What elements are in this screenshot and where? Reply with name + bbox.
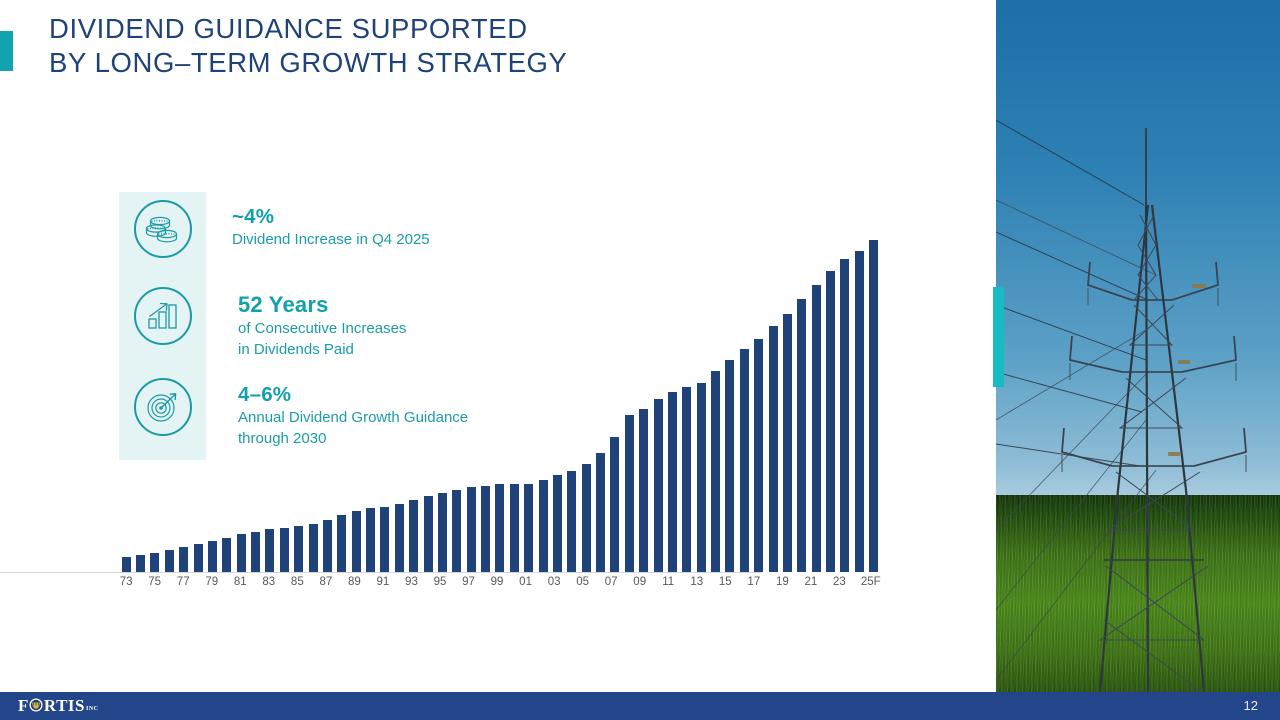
chart-bar-slot	[234, 240, 248, 572]
chart-bar-slot	[766, 240, 780, 572]
chart-x-tick	[133, 576, 147, 596]
chart-x-tick: 03	[547, 576, 561, 596]
chart-x-tick	[447, 576, 461, 596]
chart-x-tick	[190, 576, 204, 596]
fortis-logo-text: F RTIS INC	[18, 696, 99, 716]
chart-bar	[280, 528, 289, 572]
slide-root: DIVIDEND GUIDANCE SUPPORTED BY LONG–TERM…	[0, 0, 1280, 720]
chart-bar	[610, 437, 619, 572]
chart-bar-slot	[349, 240, 363, 572]
fortis-logo-crest-icon	[29, 697, 43, 711]
chart-bar-slot	[665, 240, 679, 572]
chart-bar-slot	[579, 240, 593, 572]
chart-bar	[222, 538, 231, 572]
chart-bar-slot	[838, 240, 852, 572]
chart-bar-slot	[493, 240, 507, 572]
chart-bar-slot	[220, 240, 234, 572]
chart-bar	[869, 240, 878, 572]
chart-plot-area	[119, 240, 881, 572]
chart-bar-slot	[780, 240, 794, 572]
chart-x-tick: 11	[661, 576, 675, 596]
transmission-tower-photo	[996, 0, 1280, 692]
chart-bar	[337, 515, 346, 572]
chart-bar-slot	[852, 240, 866, 572]
chart-x-tick	[561, 576, 575, 596]
chart-x-tick: 07	[604, 576, 618, 596]
chart-x-tick	[847, 576, 861, 596]
chart-x-tick	[675, 576, 689, 596]
chart-bar-slot	[708, 240, 722, 572]
chart-bar-slot	[637, 240, 651, 572]
chart-x-tick: 21	[804, 576, 818, 596]
chart-bar-slot	[191, 240, 205, 572]
chart-bar-slot	[723, 240, 737, 572]
chart-bar-slot	[248, 240, 262, 572]
chart-bar-slot	[507, 240, 521, 572]
chart-x-tick	[761, 576, 775, 596]
page-title-line-1: DIVIDEND GUIDANCE SUPPORTED	[49, 12, 829, 46]
chart-bar-slot	[522, 240, 536, 572]
chart-x-tick: 17	[747, 576, 761, 596]
stat-value-1: ~4%	[232, 204, 430, 229]
chart-bar-slot	[737, 240, 751, 572]
chart-x-tick	[276, 576, 290, 596]
chart-bar	[380, 507, 389, 572]
chart-bar-slot	[450, 240, 464, 572]
chart-x-tick: 77	[176, 576, 190, 596]
chart-bar	[122, 557, 131, 572]
chart-bar	[654, 399, 663, 572]
chart-bar	[194, 544, 203, 572]
chart-bar-slot	[133, 240, 147, 572]
chart-bar-slot	[795, 240, 809, 572]
fortis-logo-rtis: RTIS	[44, 696, 85, 716]
chart-bar	[294, 526, 303, 572]
chart-bar	[395, 504, 404, 572]
chart-bar-slot	[651, 240, 665, 572]
power-tower-illustration	[996, 0, 1280, 692]
chart-x-tick	[533, 576, 547, 596]
chart-x-tick: 73	[119, 576, 133, 596]
chart-bar-slot	[407, 240, 421, 572]
chart-x-tick	[647, 576, 661, 596]
chart-bar	[826, 271, 835, 572]
chart-bar	[769, 326, 778, 572]
chart-x-tick	[304, 576, 318, 596]
chart-bar-slot	[363, 240, 377, 572]
chart-bar	[754, 339, 763, 572]
chart-x-tick: 83	[262, 576, 276, 596]
chart-bar	[165, 550, 174, 572]
chart-bar	[783, 314, 792, 572]
chart-x-tick: 23	[832, 576, 846, 596]
chart-x-tick	[247, 576, 261, 596]
chart-x-tick: 87	[319, 576, 333, 596]
chart-bar-slot	[608, 240, 622, 572]
chart-bar-slot	[177, 240, 191, 572]
chart-x-tick	[618, 576, 632, 596]
chart-bar-slot	[292, 240, 306, 572]
chart-bar	[495, 484, 504, 572]
page-number: 12	[1244, 698, 1258, 713]
chart-x-tick: 75	[148, 576, 162, 596]
chart-bar-slot	[823, 240, 837, 572]
chart-bar	[237, 534, 246, 573]
chart-bar	[467, 487, 476, 572]
chart-bar	[438, 493, 447, 572]
chart-bar	[179, 547, 188, 572]
chart-bar-slot	[752, 240, 766, 572]
chart-x-tick	[219, 576, 233, 596]
chart-bar-slot	[148, 240, 162, 572]
chart-bar-slot	[421, 240, 435, 572]
chart-bar	[639, 409, 648, 572]
chart-bar	[352, 511, 361, 572]
fortis-logo: F RTIS INC	[18, 696, 99, 716]
chart-x-tick: 85	[290, 576, 304, 596]
chart-bar	[323, 520, 332, 572]
chart-bar	[452, 490, 461, 572]
chart-bar	[855, 251, 864, 572]
chart-x-tick	[732, 576, 746, 596]
chart-bar	[725, 360, 734, 572]
chart-bar-slot	[680, 240, 694, 572]
chart-x-tick	[333, 576, 347, 596]
chart-bar-slot	[694, 240, 708, 572]
chart-bar-slot	[205, 240, 219, 572]
chart-bar	[668, 392, 677, 572]
chart-bar-slot	[119, 240, 133, 572]
title-accent-bar	[0, 31, 13, 71]
chart-x-tick: 97	[461, 576, 475, 596]
chart-bar-slot	[464, 240, 478, 572]
chart-bar	[697, 383, 706, 572]
chart-bar	[567, 471, 576, 572]
chart-bar	[136, 555, 145, 572]
chart-bar	[150, 553, 159, 572]
chart-bar	[740, 349, 749, 572]
chart-x-tick	[419, 576, 433, 596]
chart-x-tick	[362, 576, 376, 596]
chart-bar	[481, 486, 490, 572]
chart-bar-slot	[277, 240, 291, 572]
chart-bar	[265, 529, 274, 572]
chart-x-tick: 09	[633, 576, 647, 596]
chart-x-tick: 91	[376, 576, 390, 596]
chart-x-tick: 19	[775, 576, 789, 596]
chart-bar	[251, 532, 260, 573]
chart-bar-slot	[392, 240, 406, 572]
chart-bar	[596, 453, 605, 572]
chart-bar	[797, 299, 806, 572]
chart-bar-slot	[809, 240, 823, 572]
chart-x-tick: 81	[233, 576, 247, 596]
chart-bar	[625, 415, 634, 572]
chart-bar	[424, 496, 433, 572]
chart-x-tick: 01	[518, 576, 532, 596]
chart-x-tick	[476, 576, 490, 596]
photo-accent-bar	[993, 287, 1004, 387]
chart-bar-slot	[593, 240, 607, 572]
chart-bar	[366, 508, 375, 572]
chart-bar	[524, 484, 533, 572]
chart-bar-slot	[478, 240, 492, 572]
chart-x-tick: 99	[490, 576, 504, 596]
fortis-logo-f: F	[18, 696, 29, 716]
dividend-history-bar-chart	[119, 240, 881, 572]
chart-baseline-axis	[0, 572, 762, 573]
page-title: DIVIDEND GUIDANCE SUPPORTED BY LONG–TERM…	[49, 12, 829, 80]
chart-x-axis-labels: 7375777981838587899193959799010305070911…	[119, 576, 881, 596]
chart-x-tick	[789, 576, 803, 596]
chart-x-tick: 25F	[861, 576, 881, 596]
chart-x-tick	[704, 576, 718, 596]
chart-x-tick	[590, 576, 604, 596]
chart-x-tick: 05	[576, 576, 590, 596]
chart-x-tick: 13	[690, 576, 704, 596]
chart-bar-slot	[378, 240, 392, 572]
chart-x-tick	[162, 576, 176, 596]
chart-x-tick: 15	[718, 576, 732, 596]
chart-bar	[510, 484, 519, 572]
chart-bar	[409, 500, 418, 572]
chart-x-tick: 89	[347, 576, 361, 596]
chart-bar-slot	[565, 240, 579, 572]
chart-bar-slot	[622, 240, 636, 572]
chart-bar	[711, 371, 720, 572]
chart-bar-slot	[263, 240, 277, 572]
chart-x-tick: 79	[205, 576, 219, 596]
chart-bar-slot	[162, 240, 176, 572]
chart-bar	[582, 464, 591, 572]
chart-bar	[840, 259, 849, 572]
chart-bar	[553, 475, 562, 572]
chart-bar-slot	[550, 240, 564, 572]
fortis-logo-inc: INC	[86, 706, 99, 712]
chart-bar	[682, 387, 691, 572]
chart-x-tick: 95	[433, 576, 447, 596]
chart-bar-slot	[867, 240, 881, 572]
chart-x-tick: 93	[404, 576, 418, 596]
chart-bar-slot	[335, 240, 349, 572]
page-title-line-2: BY LONG–TERM GROWTH STRATEGY	[49, 46, 829, 80]
chart-bar-slot	[306, 240, 320, 572]
chart-bar	[208, 541, 217, 572]
chart-bar	[309, 524, 318, 572]
chart-x-tick	[504, 576, 518, 596]
footer-bar	[0, 692, 1280, 720]
chart-bar-slot	[536, 240, 550, 572]
chart-x-tick	[390, 576, 404, 596]
chart-bar-slot	[435, 240, 449, 572]
chart-x-tick	[818, 576, 832, 596]
chart-bar-slot	[320, 240, 334, 572]
chart-bar	[539, 480, 548, 572]
chart-bar	[812, 285, 821, 572]
